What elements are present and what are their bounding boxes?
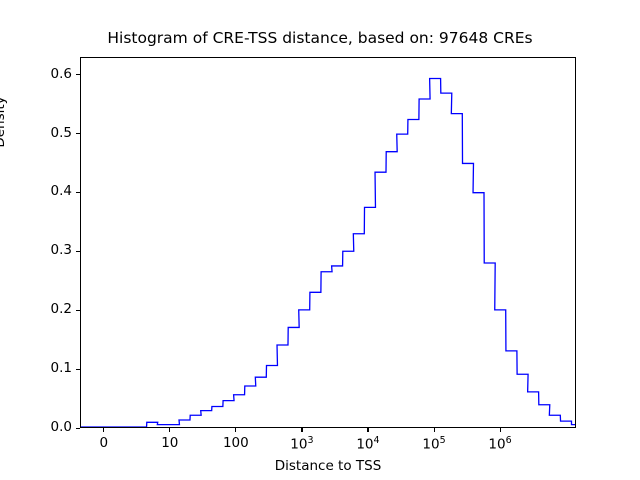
x-axis-label: Distance to TSS (80, 458, 576, 474)
y-tick-label: 0.4 (28, 183, 72, 199)
y-tick-label: 0.5 (28, 125, 72, 141)
y-tick-label: 0.0 (28, 419, 72, 435)
y-tick-mark (76, 428, 80, 429)
x-tick-label: 10 (140, 435, 200, 451)
x-tick-label: 0 (74, 435, 134, 451)
x-tick-mark (367, 428, 368, 432)
y-tick-label: 0.6 (28, 66, 72, 82)
x-tick-mark (235, 428, 236, 432)
y-tick-mark (76, 133, 80, 134)
x-tick-label: 100 (206, 435, 266, 451)
x-tick-label: 103 (272, 435, 332, 453)
x-tick-mark (169, 428, 170, 432)
y-tick-mark (76, 251, 80, 252)
y-tick-mark (76, 192, 80, 193)
figure-canvas: Histogram of CRE-TSS distance, based on:… (0, 0, 640, 480)
x-tick-mark (103, 428, 104, 432)
y-axis-label: Density (0, 22, 8, 222)
y-tick-label: 0.2 (28, 301, 72, 317)
y-tick-label: 0.3 (28, 242, 72, 258)
histogram-step-line (81, 58, 575, 427)
chart-title: Histogram of CRE-TSS distance, based on:… (0, 29, 640, 47)
x-tick-label: 105 (404, 435, 464, 453)
y-tick-label: 0.1 (28, 360, 72, 376)
y-tick-mark (76, 369, 80, 370)
x-tick-mark (434, 428, 435, 432)
x-tick-label: 104 (338, 435, 398, 453)
x-tick-mark (301, 428, 302, 432)
x-tick-mark (500, 428, 501, 432)
y-tick-mark (76, 310, 80, 311)
y-tick-mark (76, 74, 80, 75)
plot-area (80, 57, 576, 428)
x-tick-label: 106 (470, 435, 530, 453)
